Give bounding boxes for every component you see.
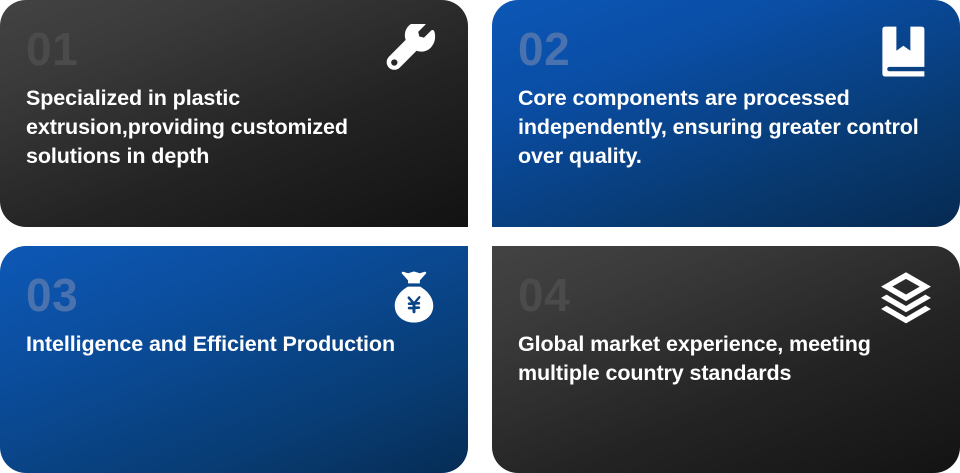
feature-card-01[interactable]: 01 Specialized in plastic extrusion,prov…	[0, 0, 468, 227]
card-number: 02	[518, 26, 934, 72]
card-text: Specialized in plastic extrusion,providi…	[26, 84, 441, 170]
feature-card-grid: 01 Specialized in plastic extrusion,prov…	[0, 0, 960, 459]
card-text: Global market experience, meeting multip…	[518, 330, 933, 388]
card-number: 01	[26, 26, 442, 72]
card-text: Core components are processed independen…	[518, 84, 933, 170]
card-number: 04	[518, 272, 934, 318]
feature-card-02[interactable]: 02 Core components are processed indepen…	[492, 0, 960, 227]
feature-card-04[interactable]: 04 Global market experience, meeting mul…	[492, 246, 960, 473]
card-number: 03	[26, 272, 442, 318]
card-text: Intelligence and Efficient Production	[26, 330, 406, 359]
feature-card-03[interactable]: 03 Intelligence and Efficient Production	[0, 246, 468, 473]
